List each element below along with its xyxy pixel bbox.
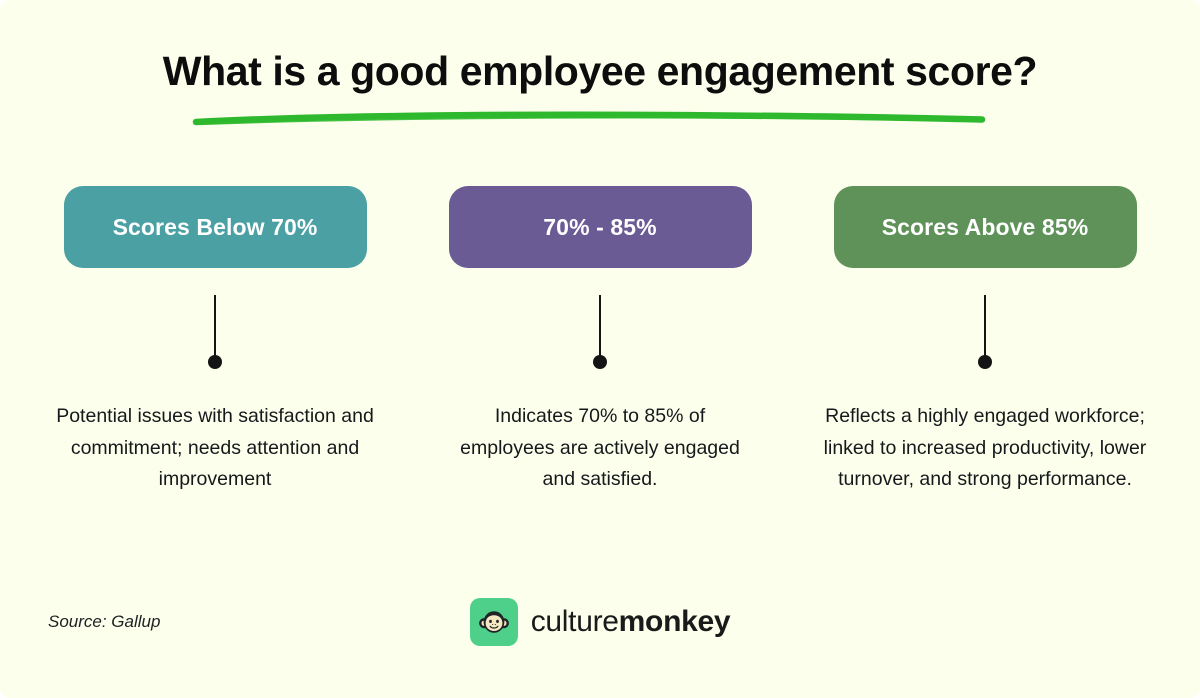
culturemonkey-logo[interactable]: culturemonkey <box>0 598 1200 646</box>
pill-70-85[interactable]: 70% - 85% <box>449 186 752 268</box>
logo-wordmark: culturemonkey <box>531 605 731 639</box>
title-block: What is a good employee engagement score… <box>0 48 1200 95</box>
description-70-85: Indicates 70% to 85% of employees are ac… <box>450 401 750 496</box>
score-band-column-below-70: Scores Below 70% Potential issues with s… <box>40 186 390 515</box>
connector-dot-icon <box>208 355 222 369</box>
connector-70-85 <box>592 295 608 387</box>
pill-label: Scores Below 70% <box>113 214 318 241</box>
pill-label: Scores Above 85% <box>882 214 1089 241</box>
description-above-85: Reflects a highly engaged workforce; lin… <box>820 401 1150 496</box>
connector-above-85 <box>977 295 993 387</box>
connector-dot-icon <box>593 355 607 369</box>
logo-word-monkey: monkey <box>619 605 731 638</box>
score-band-column-70-85: 70% - 85% Indicates 70% to 85% of employ… <box>425 186 775 515</box>
score-band-column-above-85: Scores Above 85% Reflects a highly engag… <box>810 186 1160 515</box>
pill-label: 70% - 85% <box>543 214 656 241</box>
infographic-canvas: What is a good employee engagement score… <box>0 0 1200 698</box>
page-title: What is a good employee engagement score… <box>0 48 1200 95</box>
pill-scores-above-85[interactable]: Scores Above 85% <box>834 186 1137 268</box>
logo-word-culture: culture <box>531 605 619 638</box>
pill-scores-below-70[interactable]: Scores Below 70% <box>64 186 367 268</box>
title-underline <box>190 104 990 130</box>
score-band-columns: Scores Below 70% Potential issues with s… <box>40 186 1160 515</box>
connector-below-70 <box>207 295 223 387</box>
monkey-face-icon <box>470 598 518 646</box>
description-below-70: Potential issues with satisfaction and c… <box>35 401 395 496</box>
connector-dot-icon <box>978 355 992 369</box>
